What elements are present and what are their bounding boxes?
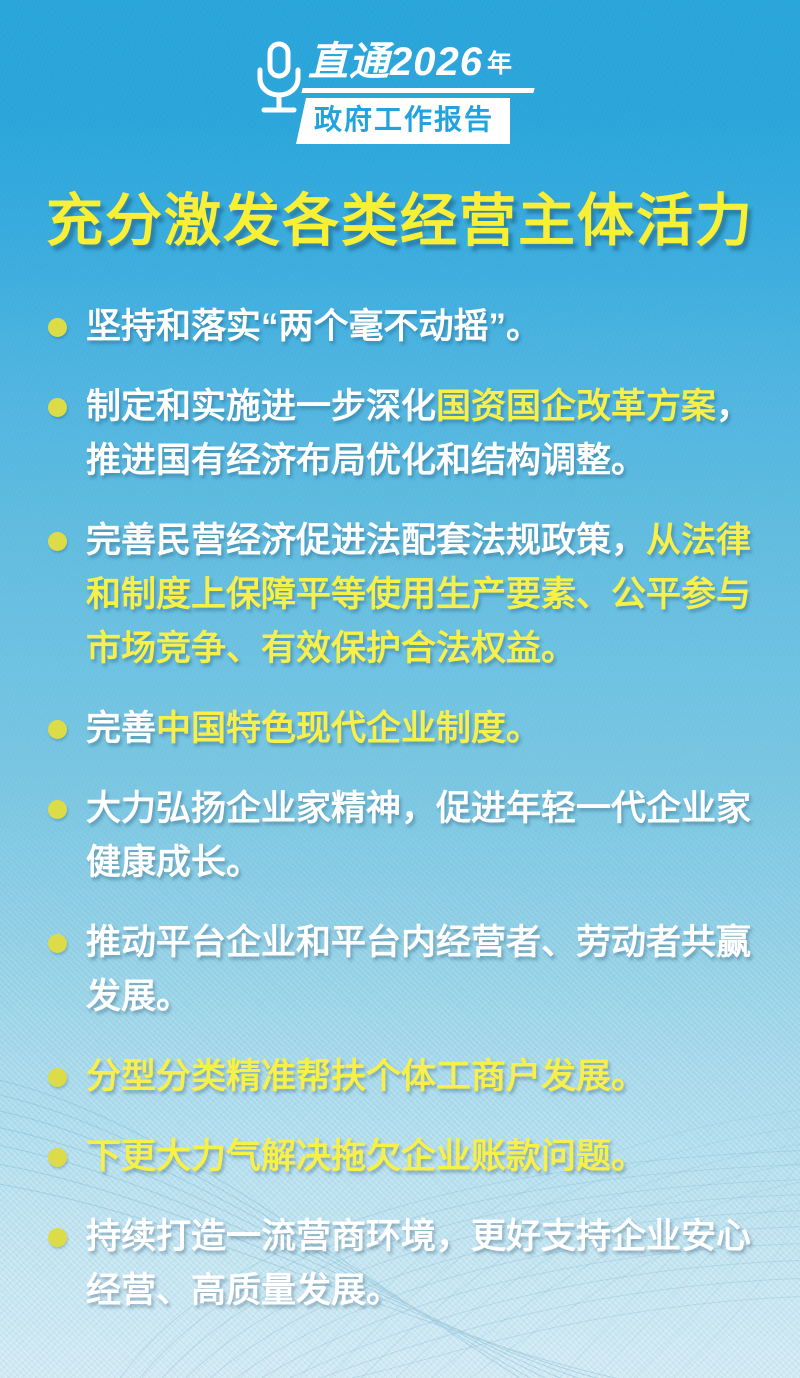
bullet-text-highlight: 国资国企改革方案 — [436, 387, 716, 426]
bullet-item: 下更大力气解决拖欠企业账款问题。 — [40, 1130, 764, 1184]
bullet-dot-icon — [48, 934, 67, 953]
bullet-text-plain: 大力弘扬企业家精神，促进年轻一代企业家健康成长。 — [86, 789, 751, 882]
bullet-text: 持续打造一流营商环境，更好支持企业安心经营、高质量发展。 — [86, 1210, 764, 1318]
bullet-text-plain: 完善民营经济促进法配套法规政策， — [86, 521, 646, 560]
bullet-text: 完善民营经济促进法配套法规政策，从法律和制度上保障平等使用生产要素、公平参与市场… — [86, 514, 764, 676]
bullet-item: 完善民营经济促进法配套法规政策，从法律和制度上保障平等使用生产要素、公平参与市场… — [40, 514, 764, 676]
bullet-dot-icon — [48, 1068, 67, 1087]
brand-subtitle-box: 政府工作报告 — [296, 98, 510, 144]
bullet-dot-icon — [48, 398, 67, 417]
brand-title-text: 直通2026 — [308, 40, 483, 84]
bullet-text: 下更大力气解决拖欠企业账款问题。 — [86, 1130, 764, 1184]
bullet-text: 大力弘扬企业家精神，促进年轻一代企业家健康成长。 — [86, 782, 764, 890]
bullet-text: 分型分类精准帮扶个体工商户发展。 — [86, 1050, 764, 1104]
bullet-text: 推动平台企业和平台内经营者、劳动者共赢发展。 — [86, 916, 764, 1024]
bullet-dot-icon — [48, 532, 67, 551]
header-logo: 直通2026年 政府工作报告 — [0, 38, 800, 150]
bullet-text: 坚持和落实“两个毫不动摇”。 — [86, 300, 764, 354]
bullet-item: 推动平台企业和平台内经营者、劳动者共赢发展。 — [40, 916, 764, 1024]
bullet-dot-icon — [48, 318, 67, 337]
bullet-text-highlight: 下更大力气解决拖欠企业账款问题。 — [86, 1137, 646, 1176]
microphone-icon — [250, 40, 308, 118]
bullet-dot-icon — [48, 800, 67, 819]
bullet-dot-icon — [48, 720, 67, 739]
brand-underline-bar — [301, 88, 534, 93]
brand-subtitle-text: 政府工作报告 — [314, 104, 494, 135]
page-title: 充分激发各类经营主体活力 — [0, 186, 800, 256]
bullet-text-plain: 持续打造一流营商环境，更好支持企业安心经营、高质量发展。 — [86, 1217, 751, 1310]
bullet-list: 坚持和落实“两个毫不动摇”。制定和实施进一步深化国资国企改革方案，推进国有经济布… — [40, 300, 764, 1344]
bullet-text: 制定和实施进一步深化国资国企改革方案，推进国有经济布局优化和结构调整。 — [86, 380, 764, 488]
bullet-text-plain: 推动平台企业和平台内经营者、劳动者共赢发展。 — [86, 923, 751, 1016]
bullet-item: 分型分类精准帮扶个体工商户发展。 — [40, 1050, 764, 1104]
bullet-text: 完善中国特色现代企业制度。 — [86, 702, 764, 756]
bullet-item: 制定和实施进一步深化国资国企改革方案，推进国有经济布局优化和结构调整。 — [40, 380, 764, 488]
bullet-item: 坚持和落实“两个毫不动摇”。 — [40, 300, 764, 354]
bullet-text-highlight: 中国特色现代企业制度。 — [156, 709, 541, 748]
bullet-text-plain: 完善 — [86, 709, 156, 748]
bullet-dot-icon — [48, 1148, 67, 1167]
bullet-text-highlight: 分型分类精准帮扶个体工商户发展。 — [86, 1057, 646, 1096]
brand-year-suffix: 年 — [487, 50, 513, 78]
poster-canvas: 直通2026年 政府工作报告 充分激发各类经营主体活力 坚持和落实“两个毫不动摇… — [0, 0, 800, 1378]
bullet-text-plain: 制定和实施进一步深化 — [86, 387, 436, 426]
bullet-item: 持续打造一流营商环境，更好支持企业安心经营、高质量发展。 — [40, 1210, 764, 1318]
bullet-item: 大力弘扬企业家精神，促进年轻一代企业家健康成长。 — [40, 782, 764, 890]
bullet-text-plain: 坚持和落实“两个毫不动摇”。 — [86, 307, 541, 346]
brand-title: 直通2026年 — [308, 38, 513, 91]
bullet-item: 完善中国特色现代企业制度。 — [40, 702, 764, 756]
bullet-dot-icon — [48, 1228, 67, 1247]
